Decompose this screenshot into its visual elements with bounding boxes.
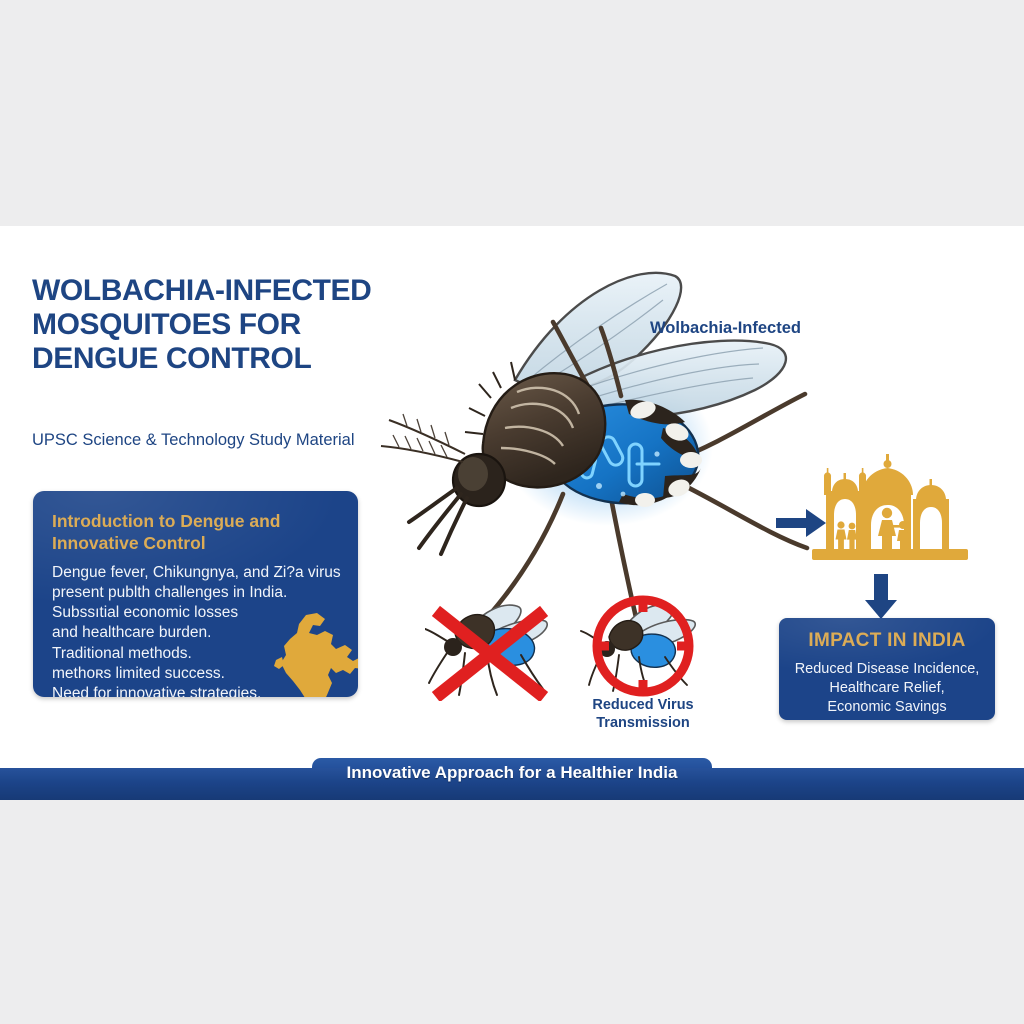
intro-card-title: Introduction to Dengue and Innovative Co…: [52, 510, 342, 554]
page-title-line-3: DENGUE CONTROL: [32, 342, 432, 376]
impact-body-line-1: Reduced Disease Incidence,: [779, 660, 995, 679]
impact-card-body: Reduced Disease Incidence, Healthcare Re…: [779, 660, 995, 717]
impact-card: IMPACT IN INDIA Reduced Disease Incidenc…: [779, 618, 995, 720]
no-transmission-label-line-2: Transmission: [555, 714, 731, 732]
impact-card-title: IMPACT IN INDIA: [779, 630, 995, 652]
wolbachia-mosquito-illustration: [375, 248, 815, 648]
impact-body-line-2: Healthcare Relief,: [779, 679, 995, 698]
india-map-icon: [273, 611, 358, 697]
intro-body-line-1: Dengue fever, Chikungnya, and Zi?a virus: [52, 563, 352, 583]
page-subtitle: UPSC Science & Technology Study Material: [32, 431, 432, 450]
infographic-canvas: WOLBACHIA-INFECTED MOSQUITOES FOR DENGUE…: [0, 226, 1024, 800]
taj-mahal-monument-icon: [800, 451, 980, 566]
no-transmission-label-line-1: Reduced Virus: [555, 696, 731, 714]
banner-text: Innovative Approach for a Healthier Indi…: [312, 763, 712, 783]
no-transmission-label: Reduced Virus Transmission: [555, 696, 731, 732]
hero-label: Wolbachia-Infected: [650, 319, 801, 338]
arrow-right-icon: [776, 508, 826, 538]
mosquito-proboscis: [409, 488, 467, 554]
mosquito-antennae: [381, 414, 465, 462]
page-title-line-2: MOSQUITOES FOR: [32, 308, 432, 342]
infographic-stage: WOLBACHIA-INFECTED MOSQUITOES FOR DENGUE…: [0, 0, 1024, 1024]
page-title: WOLBACHIA-INFECTED MOSQUITOES FOR DENGUE…: [32, 274, 432, 377]
impact-body-line-3: Economic Savings: [779, 698, 995, 717]
intro-card-title-line-2: Innovative Control: [52, 533, 206, 553]
intro-body-line-2: present publth challenges in India.: [52, 583, 352, 603]
intro-card: Introduction to Dengue and Innovative Co…: [33, 491, 358, 697]
arrow-down-icon: [864, 574, 898, 620]
intro-card-title-line-1: Introduction to Dengue and: [52, 511, 280, 531]
page-title-line-1: WOLBACHIA-INFECTED: [32, 274, 432, 308]
crossed-out-mosquito-icon: [425, 591, 565, 701]
no-transmission-mosquito-icon: [573, 591, 713, 709]
